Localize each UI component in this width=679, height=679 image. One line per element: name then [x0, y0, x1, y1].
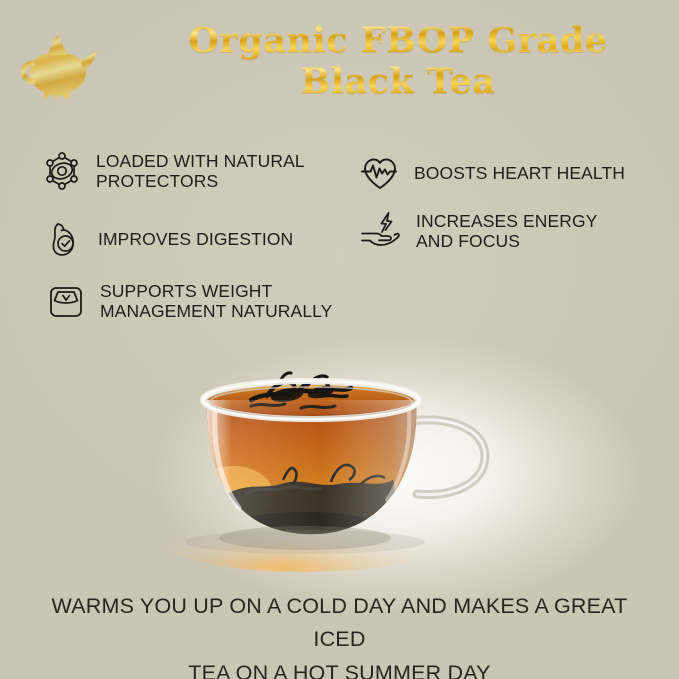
page-title: Organic FBOP Grade Black Tea	[128, 20, 668, 103]
benefit-supports-weight-management: Supports weight management naturally	[44, 280, 332, 324]
benefit-improves-digestion: Improves digestion	[42, 218, 293, 262]
heart-pulse-icon	[358, 152, 402, 196]
benefit-label: Loaded with natural protectors	[96, 152, 305, 191]
benefit-label: Supports weight management naturally	[100, 282, 332, 321]
header: Organic FBOP Grade Black Tea	[0, 0, 679, 122]
hand-lightning-icon	[360, 210, 404, 254]
product-photo-teacup	[155, 352, 545, 590]
weight-scale-icon	[44, 280, 88, 324]
teapot-icon	[18, 24, 110, 104]
infographic-page: Organic FBOP Grade Black Tea	[0, 0, 679, 679]
benefit-increases-energy-and-focus: Increases energy and focus	[360, 210, 598, 254]
benefit-label: Increases energy and focus	[416, 212, 598, 251]
title-line-1: Organic FBOP Grade	[128, 20, 668, 61]
stomach-check-icon	[42, 218, 86, 262]
tagline: Warms you up on a cold day and makes a g…	[28, 590, 651, 679]
benefits-section: Loaded with natural protectors Improves …	[0, 140, 679, 345]
benefit-boosts-heart-health: Boosts heart health	[358, 152, 625, 196]
teacup-illustration	[155, 352, 545, 590]
benefit-loaded-with-natural-protectors: Loaded with natural protectors	[40, 150, 305, 194]
benefit-label: Improves digestion	[98, 230, 293, 250]
benefit-label: Boosts heart health	[414, 164, 625, 184]
title-line-2: Black Tea	[128, 61, 668, 102]
molecule-icon	[40, 150, 84, 194]
